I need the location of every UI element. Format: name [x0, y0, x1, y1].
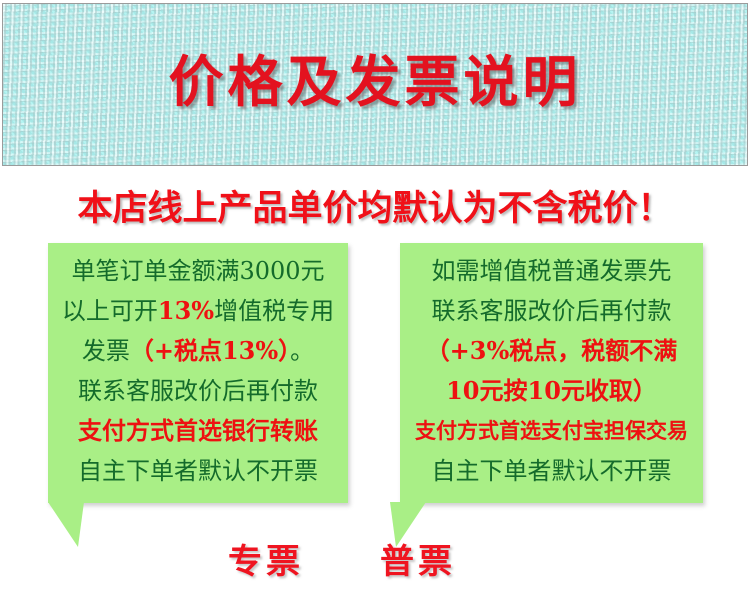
left-line-3-prefix: 发票 — [82, 337, 130, 365]
right-box-line-1: 如需增值税普通发票先 — [406, 251, 697, 291]
left-line-3-suffix: 。 — [290, 337, 314, 365]
left-line-2-highlight: 13% — [158, 296, 214, 325]
left-line-3-highlight: （+税点13%） — [130, 336, 290, 365]
left-box-last-line: 自主下单者默认不开票 — [54, 451, 342, 491]
header-banner: 价格及发票说明 — [2, 3, 748, 166]
left-box-line-3: 发票（+税点13%）。 — [54, 331, 342, 371]
right-box-payment-line: 支付方式首选支付宝担保交易 — [406, 411, 697, 451]
left-line-2-prefix: 以上可开 — [62, 297, 158, 325]
tag-special-invoice: 专票 — [228, 534, 304, 583]
callout-box-special-invoice: 单笔订单金额满3000元 以上可开13%增值税专用 发票（+税点13%）。 联系… — [48, 243, 348, 503]
left-box-payment-line: 支付方式首选银行转账 — [54, 411, 342, 451]
speech-tail-left — [48, 502, 118, 542]
right-box-tax-line-2: 10元按10元收取） — [406, 371, 697, 411]
right-box-tax-line-1: （+3%税点，税额不满 — [406, 331, 697, 371]
page-title: 价格及发票说明 — [3, 52, 747, 113]
callout-box-general-invoice: 如需增值税普通发票先 联系客服改价后再付款 （+3%税点，税额不满 10元按10… — [400, 243, 703, 503]
right-box-line-2: 联系客服改价后再付款 — [406, 291, 697, 331]
right-box-last-line: 自主下单者默认不开票 — [406, 451, 697, 491]
left-line-4-text: 联系客服改价后再付款 — [78, 377, 318, 405]
left-line-2-suffix: 增值税专用 — [214, 297, 334, 325]
left-line-1-text: 单笔订单金额满3000元 — [71, 257, 324, 285]
subtitle-notice: 本店线上产品单价均默认为不含税价！ — [0, 180, 750, 231]
left-box-line-4: 联系客服改价后再付款 — [54, 371, 342, 411]
left-box-line-1: 单笔订单金额满3000元 — [54, 251, 342, 291]
tag-general-invoice: 普票 — [380, 534, 456, 583]
left-box-line-2: 以上可开13%增值税专用 — [54, 291, 342, 331]
